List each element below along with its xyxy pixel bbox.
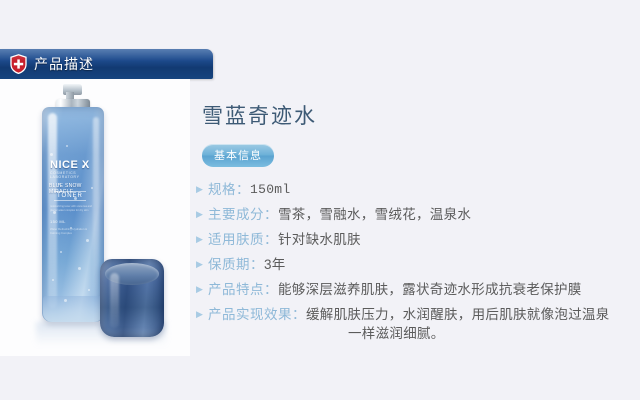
list-item: ▶ 适用肤质： 针对缺水肌肤 — [196, 230, 636, 249]
bottle-brand-subtext: COSMETICS LABORATORY — [50, 171, 104, 179]
basic-info-badge: 基本信息 — [202, 144, 274, 167]
bottle-fine-print: moisturizing toner with snow tea and gla… — [50, 205, 96, 213]
bullet-arrow-icon: ▶ — [196, 310, 208, 319]
product-photo: NICE X COSMETICS LABORATORY BLUE SNOW MI… — [0, 79, 190, 356]
list-item: ▶ 保质期： 3年 — [196, 255, 636, 274]
spec-value: 能够深层滋养肌肤，露状奇迹水形成抗衰老保护膜 — [278, 280, 582, 299]
product-info: 雪蓝奇迹水 基本信息 ▶ 规格： 150ml ▶ 主要成分： 雪茶，雪融水，雪绒… — [196, 100, 636, 349]
spec-label: 产品实现效果： — [208, 305, 306, 324]
spec-value-group: 缓解肌肤压力，水润醒肤，用后肌肤就像泡过温泉一样滋润细腻。 — [306, 305, 610, 343]
spec-label: 适用肤质： — [208, 230, 278, 249]
section-header-banner: 产品描述 — [0, 49, 213, 79]
product-image-panel: NICE X COSMETICS LABORATORY BLUE SNOW MI… — [0, 79, 190, 356]
spec-value: 150ml — [250, 180, 291, 199]
bullet-arrow-icon: ▶ — [196, 210, 208, 219]
bottle-product-type-text: TONER — [54, 191, 86, 201]
list-item: ▶ 产品特点： 能够深层滋养肌肤，露状奇迹水形成抗衰老保护膜 — [196, 280, 636, 299]
spec-value: 针对缺水肌肤 — [278, 230, 361, 249]
bullet-arrow-icon: ▶ — [196, 260, 208, 269]
banner-title: 产品描述 — [34, 54, 94, 74]
spec-value: 3年 — [264, 255, 286, 274]
spec-value: 缓解肌肤压力，水润醒肤，用后肌肤就像泡过温泉 — [306, 307, 610, 322]
bottle-volume-text: 150 ML — [50, 219, 66, 224]
spec-label: 产品特点： — [208, 280, 278, 299]
product-bottle: NICE X COSMETICS LABORATORY BLUE SNOW MI… — [42, 107, 104, 322]
spec-value: 雪茶，雪融水，雪绒花，温泉水 — [278, 205, 471, 224]
spec-value-continued: 一样滋润细腻。 — [306, 324, 610, 343]
list-item: ▶ 主要成分： 雪茶，雪融水，雪绒花，温泉水 — [196, 205, 636, 224]
bullet-arrow-icon: ▶ — [196, 235, 208, 244]
spec-label: 保质期： — [208, 255, 264, 274]
list-item: ▶ 规格： 150ml — [196, 180, 636, 199]
bottle-base — [43, 296, 103, 322]
page-title: 雪蓝奇迹水 — [202, 100, 636, 130]
bottle-brand-text: NICE X — [50, 159, 90, 171]
bullet-arrow-icon: ▶ — [196, 285, 208, 294]
spec-list: ▶ 规格： 150ml ▶ 主要成分： 雪茶，雪融水，雪绒花，温泉水 ▶ 适用肤… — [196, 180, 636, 343]
spec-label: 规格： — [208, 180, 250, 199]
bottle-volume-subtext: Water Refreshing Hydration & Calming Com… — [50, 227, 94, 236]
shield-cross-icon — [10, 54, 27, 74]
list-item: ▶ 产品实现效果： 缓解肌肤压力，水润醒肤，用后肌肤就像泡过温泉一样滋润细腻。 — [196, 305, 636, 343]
bottle-cap — [100, 259, 164, 337]
spec-label: 主要成分： — [208, 205, 278, 224]
bottle-cap-highlight — [110, 273, 119, 328]
bullet-arrow-icon: ▶ — [196, 185, 208, 194]
